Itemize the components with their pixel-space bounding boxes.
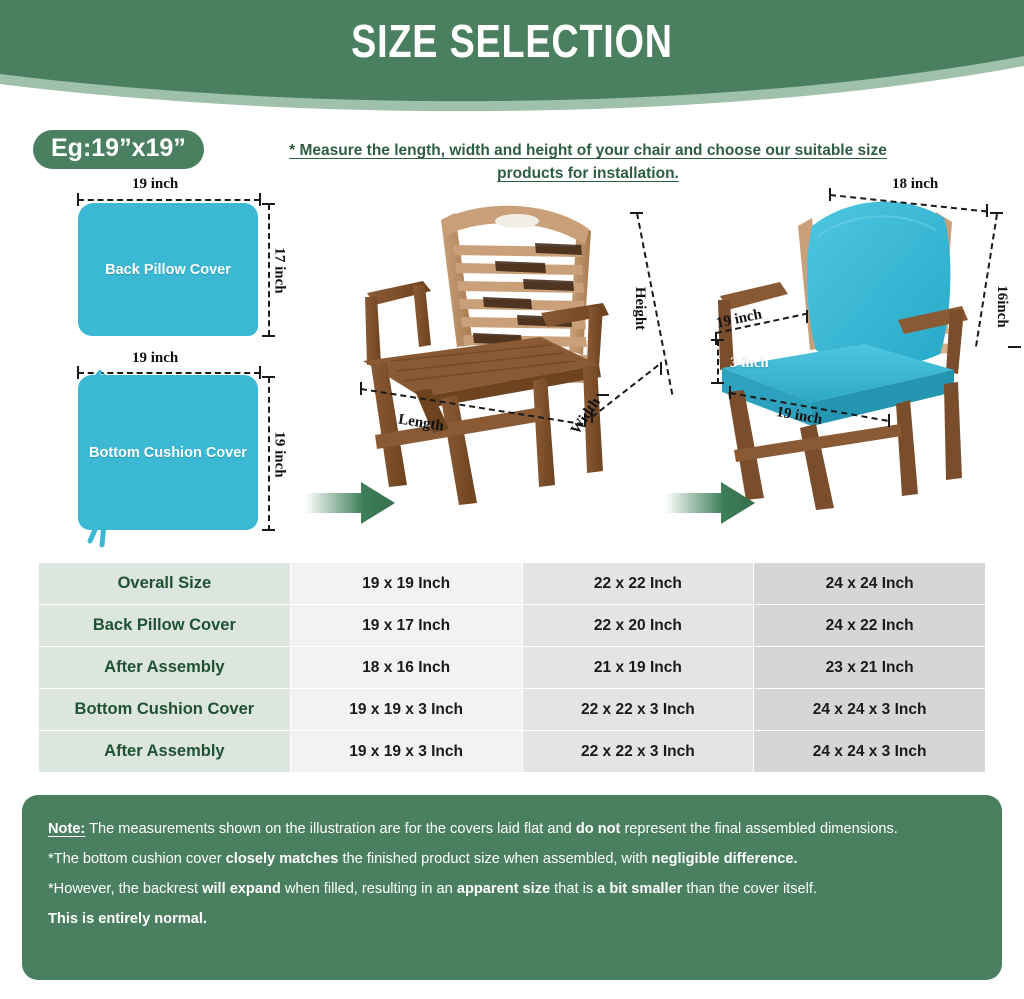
note-box: Note: The measurements shown on the illu… xyxy=(22,795,1002,980)
row-label: Overall Size xyxy=(39,563,291,605)
row-value: 23 x 21 Inch xyxy=(754,647,986,689)
note-emphasis: closely matches xyxy=(226,851,339,867)
note-line-4: This is entirely normal. xyxy=(48,905,976,935)
dim-cap xyxy=(806,310,808,323)
table-row: Bottom Cushion Cover 19 x 19 x 3 Inch 22… xyxy=(39,689,986,731)
row-value: 24 x 24 Inch xyxy=(754,563,986,605)
row-value: 19 x 19 x 3 Inch xyxy=(290,731,522,773)
example-size-badge: Eg:19”x19” xyxy=(33,130,204,169)
row-label: After Assembly xyxy=(39,731,291,773)
dim-cap xyxy=(986,204,988,217)
bottom-cushion-cover-label: Bottom Cushion Cover xyxy=(89,445,247,461)
process-arrow-2 xyxy=(665,480,755,526)
note-emphasis: negligible difference. xyxy=(652,851,798,867)
dim-cap xyxy=(262,203,275,205)
note-text: The measurements shown on the illustrati… xyxy=(85,821,576,837)
dim-cap xyxy=(262,529,275,531)
row-label: Back Pillow Cover xyxy=(39,605,291,647)
row-value: 22 x 22 x 3 Inch xyxy=(522,689,754,731)
note-line-1: Note: The measurements shown on the illu… xyxy=(48,815,976,845)
note-text: than the cover itself. xyxy=(682,881,817,897)
note-line-3: *However, the backrest will expand when … xyxy=(48,875,976,905)
dim-cap xyxy=(1008,346,1021,348)
bottom-cushion-height-label: 19 inch xyxy=(271,431,288,477)
note-line-2: *The bottom cushion cover closely matche… xyxy=(48,845,976,875)
page-title: SIZE SELECTION xyxy=(92,14,932,68)
dim-cap xyxy=(829,188,831,201)
note-emphasis: do not xyxy=(576,821,621,837)
dim-cap xyxy=(630,212,643,214)
cushion-tie-strap-top xyxy=(70,368,130,408)
note-text: *The bottom cushion cover xyxy=(48,851,226,867)
note-lead-label: Note: xyxy=(48,821,85,837)
bare-chair-photo xyxy=(345,185,645,515)
process-arrow-1 xyxy=(305,480,395,526)
note-text: *However, the backrest xyxy=(48,881,202,897)
back-pillow-height-label: 17 inch xyxy=(271,247,288,293)
table-row: After Assembly 19 x 19 x 3 Inch 22 x 22 … xyxy=(39,731,986,773)
dim-cap xyxy=(711,382,724,384)
note-text: when filled, resulting in an xyxy=(281,881,457,897)
size-table: Overall Size 19 x 19 Inch 22 x 22 Inch 2… xyxy=(38,562,986,773)
row-value: 19 x 19 Inch xyxy=(290,563,522,605)
row-value: 22 x 22 x 3 Inch xyxy=(522,731,754,773)
cushion-tie-strap-bottom xyxy=(78,515,168,555)
note-emphasis: a bit smaller xyxy=(597,881,682,897)
row-value: 21 x 19 Inch xyxy=(522,647,754,689)
chair-height-label: Height xyxy=(631,287,648,330)
dim-cap xyxy=(729,386,731,399)
row-value: 24 x 24 x 3 Inch xyxy=(754,731,986,773)
page-header: SIZE SELECTION xyxy=(0,0,1024,122)
cushion-thickness-rule xyxy=(717,340,719,384)
pillow-side-label: 16inch xyxy=(993,285,1010,328)
note-emphasis: This is entirely normal. xyxy=(48,911,207,927)
dim-cap xyxy=(888,414,890,427)
dim-cap xyxy=(711,339,724,341)
covered-chair-photo xyxy=(700,178,1000,518)
dim-cap xyxy=(77,193,79,206)
table-row: Overall Size 19 x 19 Inch 22 x 22 Inch 2… xyxy=(39,563,986,605)
pillow-top-label: 18 inch xyxy=(892,176,938,193)
cushion-thickness-label: 3 inch xyxy=(730,355,769,372)
row-value: 24 x 22 Inch xyxy=(754,605,986,647)
dim-cap xyxy=(259,366,261,379)
note-text: the finished product size when assembled… xyxy=(338,851,651,867)
back-pillow-width-rule xyxy=(78,199,260,201)
bottom-cushion-width-label: 19 inch xyxy=(132,350,178,367)
table-row: Back Pillow Cover 19 x 17 Inch 22 x 20 I… xyxy=(39,605,986,647)
dim-cap xyxy=(660,362,662,375)
note-text: represent the final assembled dimensions… xyxy=(620,821,897,837)
dim-cap xyxy=(596,394,609,396)
row-value: 19 x 19 x 3 Inch xyxy=(290,689,522,731)
row-value: 24 x 24 x 3 Inch xyxy=(754,689,986,731)
dim-cap xyxy=(259,193,261,206)
dim-cap xyxy=(262,335,275,337)
row-value: 22 x 22 Inch xyxy=(522,563,754,605)
back-pillow-cover-label: Back Pillow Cover xyxy=(105,262,231,278)
back-pillow-cover-swatch: Back Pillow Cover xyxy=(78,203,258,336)
dim-cap xyxy=(360,382,362,395)
dim-cap xyxy=(990,212,1003,214)
dim-cap xyxy=(262,376,275,378)
note-text: that is xyxy=(550,881,597,897)
row-label: After Assembly xyxy=(39,647,291,689)
row-value: 18 x 16 Inch xyxy=(290,647,522,689)
table-row: After Assembly 18 x 16 Inch 21 x 19 Inch… xyxy=(39,647,986,689)
row-label: Bottom Cushion Cover xyxy=(39,689,291,731)
row-value: 19 x 17 Inch xyxy=(290,605,522,647)
note-emphasis: apparent size xyxy=(457,881,550,897)
back-pillow-width-label: 19 inch xyxy=(132,176,178,193)
note-emphasis: will expand xyxy=(202,881,281,897)
row-value: 22 x 20 Inch xyxy=(522,605,754,647)
